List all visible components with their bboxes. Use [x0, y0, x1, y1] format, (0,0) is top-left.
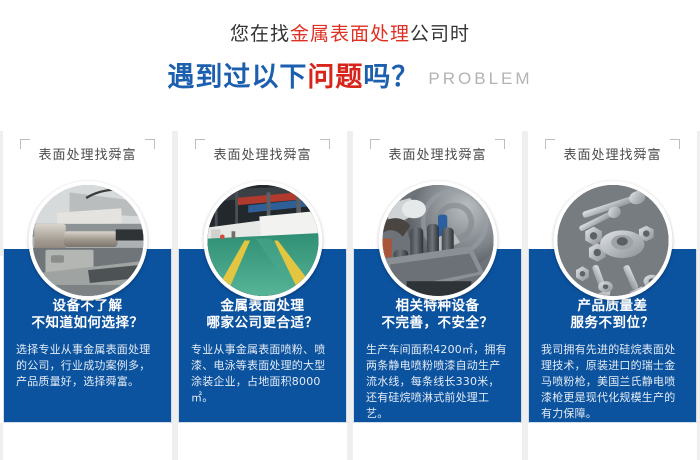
card-body-text: 选择专业从事金属表面处理的公司，行业成功案例多，产品质量好，选择舜富。: [16, 342, 159, 390]
metal-parts-fixture-photo: [378, 181, 497, 300]
card-title: 产品质量差 服务不到位？: [541, 297, 684, 331]
card-body-text: 我司拥有先进的硅烷表面处理技术，原装进口的瑞士金马喷粉枪，美国兰氏静电喷漆枪更是…: [541, 342, 684, 422]
card-badge-label: 表面处理找舜富: [195, 141, 329, 166]
header-subtitle-part-accent: 问题: [307, 62, 363, 92]
card-badge-label: 表面处理找舜富: [370, 141, 504, 166]
header-title-line-1: 您在找金属表面处理公司时: [0, 22, 700, 48]
header-title-line-2: 遇到过以下问题吗？PROBLEM: [0, 60, 700, 96]
card-title: 金属表面处理 哪家公司更合适？: [191, 297, 334, 331]
card-text-block: 相关特种设备 不完善，不安全？ 生产车间面积4200㎡，拥有两条静电喷粉喷漆自动…: [354, 297, 521, 422]
card-badge-label: 表面处理找舜富: [20, 141, 154, 166]
card-badge: 表面处理找舜富: [3, 138, 172, 168]
card-text-block: 金属表面处理 哪家公司更合适？ 专业从事金属表面喷粉、喷漆、电泳等表面处理的大型…: [179, 297, 346, 406]
card-badge-label: 表面处理找舜富: [545, 141, 679, 166]
card-badge: 表面处理找舜富: [178, 138, 347, 168]
card-badge: 表面处理找舜富: [353, 138, 522, 168]
card-text-block: 产品质量差 服务不到位？ 我司拥有先进的硅烷表面处理技术，原装进口的瑞士金马喷粉…: [529, 297, 696, 422]
card-title-line-2: 不知道如何选择？: [16, 314, 159, 331]
header-subtitle-part-pre: 遇到过以下: [167, 62, 307, 92]
card-title: 相关特种设备 不完善，不安全？: [366, 297, 509, 331]
problem-card-list: 表面处理找舜富 设备不了解 不知道如何选择？ 选择专业从事金属表面处理的公司，行…: [0, 131, 700, 460]
problem-card[interactable]: 表面处理找舜富 设备不了解 不知道如何选择？ 选择专业从事金属表面处理的公司，行…: [3, 131, 172, 460]
section-header: 您在找金属表面处理公司时 遇到过以下问题吗？PROBLEM: [0, 0, 700, 131]
problem-card[interactable]: 表面处理找舜富 金属表面处理 哪家公司更合适？ 专业从事金属表面喷粉、喷漆、电泳…: [178, 131, 347, 460]
card-text-block: 设备不了解 不知道如何选择？ 选择专业从事金属表面处理的公司，行业成功案例多，产…: [4, 297, 171, 390]
card-title-line-2: 哪家公司更合适？: [191, 314, 334, 331]
header-subtitle-part-post: 吗？: [363, 62, 419, 92]
factory-workshop-photo: [203, 181, 322, 300]
problem-card[interactable]: 表面处理找舜富 相关特种设备 不完善，不安全？ 生产车间面积4200㎡，拥有两条…: [353, 131, 522, 460]
card-title: 设备不了解 不知道如何选择？: [16, 297, 159, 331]
header-subtitle-latin: PROBLEM: [428, 69, 532, 88]
header-title-part-pre: 您在找: [230, 24, 290, 45]
lathe-machining-photo: [28, 181, 147, 300]
card-body-text: 专业从事金属表面喷粉、喷漆、电泳等表面处理的大型涂装企业，占地面积8000㎡。: [191, 342, 334, 406]
galvanized-fasteners-photo: [553, 181, 672, 300]
header-title-part-post: 公司时: [410, 24, 470, 45]
card-title-line-2: 不完善，不安全？: [366, 314, 509, 331]
card-title-line-2: 服务不到位？: [541, 314, 684, 331]
card-body-text: 生产车间面积4200㎡，拥有两条静电喷粉喷漆自动生产流水线，每条线长330米，还…: [366, 342, 509, 422]
card-badge: 表面处理找舜富: [528, 138, 697, 168]
problem-card[interactable]: 表面处理找舜富 产品质量差 服务不到位？ 我司拥有先进的硅烷表面处理技术，原装进…: [528, 131, 697, 460]
header-title-part-accent: 金属表面处理: [290, 24, 410, 45]
